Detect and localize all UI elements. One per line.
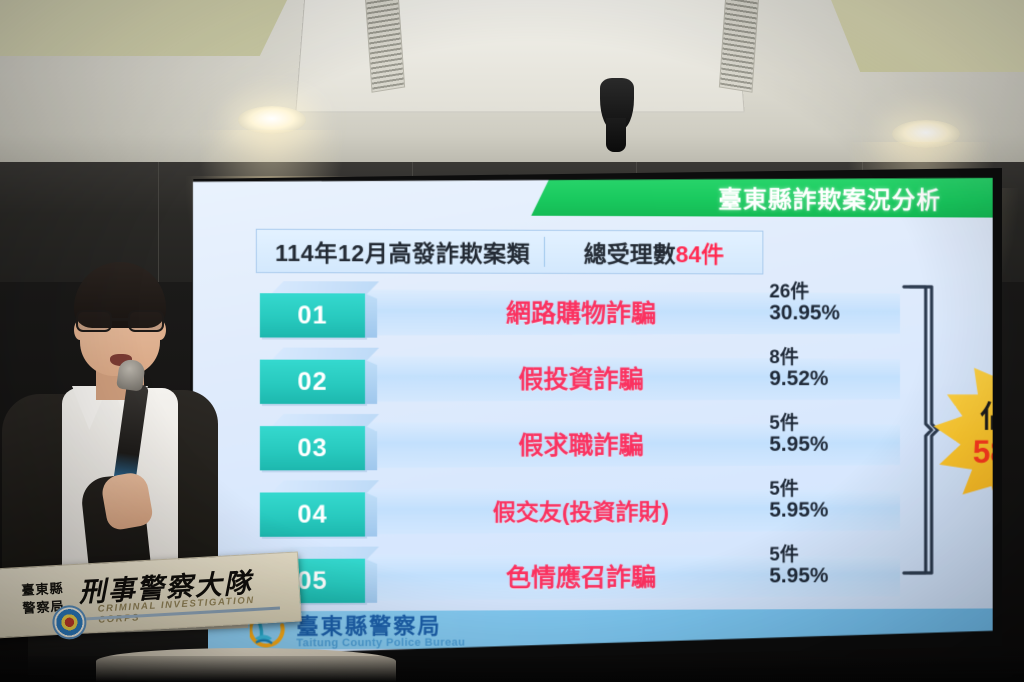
press-conference-scene: 臺東縣詐欺案況分析 114年12月高發詐欺案類 總受理數84件 01 網路購物詐…: [0, 0, 1024, 682]
case-count: 8件: [769, 348, 888, 368]
rank-badge: 01: [260, 293, 365, 337]
callout-label: 佔整體: [930, 392, 993, 436]
rank-badge: 04: [260, 492, 365, 536]
total-cases-value: 84件: [676, 235, 724, 269]
fraud-type-list: 01 網路購物詐騙 26件 30.95% 02 假投資詐騙: [193, 279, 993, 602]
eyeglasses-icon: [76, 310, 164, 332]
fraud-type-stats: 26件 30.95%: [769, 282, 888, 323]
org-name-cn: 臺東縣警察局: [296, 614, 465, 638]
air-vent-left: [365, 0, 405, 93]
total-cases-group: 總受理數84件: [545, 235, 762, 270]
fraud-type-label: 假求職詐騙: [415, 412, 745, 476]
rank-badge-side: [365, 426, 377, 470]
rank-badge-wrap: 02: [260, 348, 379, 408]
list-item: 01 網路購物詐騙 26件 30.95%: [193, 279, 993, 345]
rank-badge-wrap: 03: [260, 414, 379, 474]
list-item: 03 假求職詐騙 5件 5.95%: [193, 412, 993, 477]
rank-badge-side: [365, 492, 377, 536]
case-percent: 9.52%: [769, 368, 888, 390]
case-count: 5件: [769, 545, 888, 565]
glasses-bridge: [112, 318, 128, 321]
list-item: 05 色情應召詐騙 5件 5.95%: [193, 543, 993, 610]
rank-badge-side: [365, 360, 377, 404]
case-percent: 5.95%: [769, 565, 888, 587]
lens-right: [128, 310, 164, 332]
ceiling-cove-right: [828, 0, 1024, 72]
callout-value: 58.33%: [930, 434, 993, 471]
case-count: 5件: [769, 480, 888, 500]
fraud-type-stats: 5件 5.95%: [769, 480, 888, 521]
rank-badge-side: [365, 293, 377, 337]
logo-text: 臺東縣警察局 Taitung County Police Bureau: [296, 614, 465, 650]
case-count: 26件: [769, 282, 888, 302]
fraud-type-label: 假投資詐騙: [415, 346, 745, 410]
fraud-type-label: 假交友(投資詐財): [415, 478, 745, 543]
rank-badge: 03: [260, 426, 365, 470]
speaker-person: [0, 262, 214, 602]
subtitle-left-text: 114年12月高發詐欺案類: [257, 234, 544, 269]
fraud-type-label: 色情應召詐騙: [415, 544, 745, 609]
rank-badge-side: [365, 559, 377, 603]
case-count: 5件: [769, 414, 888, 433]
foreground-shadow: [0, 656, 1024, 682]
fraud-type-stats: 5件 5.95%: [769, 414, 888, 455]
fraud-type-label: 網路購物詐騙: [415, 280, 745, 345]
ceiling-projector-icon: [600, 78, 634, 130]
list-item: 02 假投資詐騙 8件 9.52%: [193, 345, 993, 410]
percentage-callout-starburst: 佔整體 58.33%: [930, 354, 993, 521]
rank-badge: 02: [260, 360, 365, 404]
org-name-en: Taitung County Police Bureau: [296, 637, 465, 649]
rank-badge-wrap: 04: [260, 480, 379, 541]
ceiling-cove-left: [0, 0, 290, 56]
fraud-type-stats: 5件 5.95%: [769, 545, 888, 586]
total-cases-label: 總受理數: [584, 235, 676, 269]
lens-left: [76, 310, 112, 332]
list-item: 04 假交友(投資詐財) 5件 5.95%: [193, 478, 993, 544]
air-vent-right: [719, 0, 759, 93]
presentation-slide: 臺東縣詐欺案況分析 114年12月高發詐欺案類 總受理數84件 01 網路購物詐…: [193, 174, 993, 656]
case-percent: 5.95%: [769, 433, 888, 455]
microphone-head-icon: [116, 358, 146, 391]
rank-badge-wrap: 01: [260, 281, 379, 342]
case-percent: 5.95%: [769, 499, 888, 521]
case-percent: 30.95%: [769, 302, 888, 324]
ceiling-panel: [295, 0, 744, 112]
subtitle-bar: 114年12月高發詐欺案類 總受理數84件: [256, 229, 764, 275]
slide-header-title: 臺東縣詐欺案況分析: [666, 178, 993, 215]
fraud-type-stats: 8件 9.52%: [769, 348, 888, 389]
